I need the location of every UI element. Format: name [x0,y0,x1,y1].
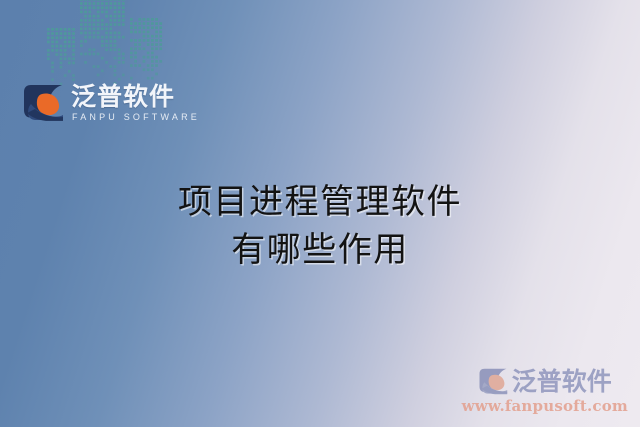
watermark: 泛普软件 www.fanpusoft.com [462,368,628,415]
brand-name-cn: 泛普软件 [71,84,200,110]
watermark-url: www.fanpusoft.com [462,397,628,415]
page-title-line-2: 有哪些作用 [0,226,640,274]
page-title-line-1: 项目进程管理软件 [0,178,640,226]
fanpu-logo-mark-icon [22,84,64,122]
brand-text-block: 泛普软件 FANPU SOFTWARE [71,84,200,122]
slide-canvas: 泛普软件 FANPU SOFTWARE 项目进程管理软件 有哪些作用 泛普软件 … [0,0,640,427]
page-title: 项目进程管理软件 有哪些作用 [0,178,640,275]
watermark-logo-row: 泛普软件 [478,368,612,395]
brand-name-en: FANPU SOFTWARE [71,113,200,122]
dot-matrix-skyline-icon [44,0,174,88]
brand-logo: 泛普软件 FANPU SOFTWARE [22,84,200,122]
watermark-name-cn: 泛普软件 [512,369,612,394]
fanpu-watermark-mark-icon [478,368,508,395]
